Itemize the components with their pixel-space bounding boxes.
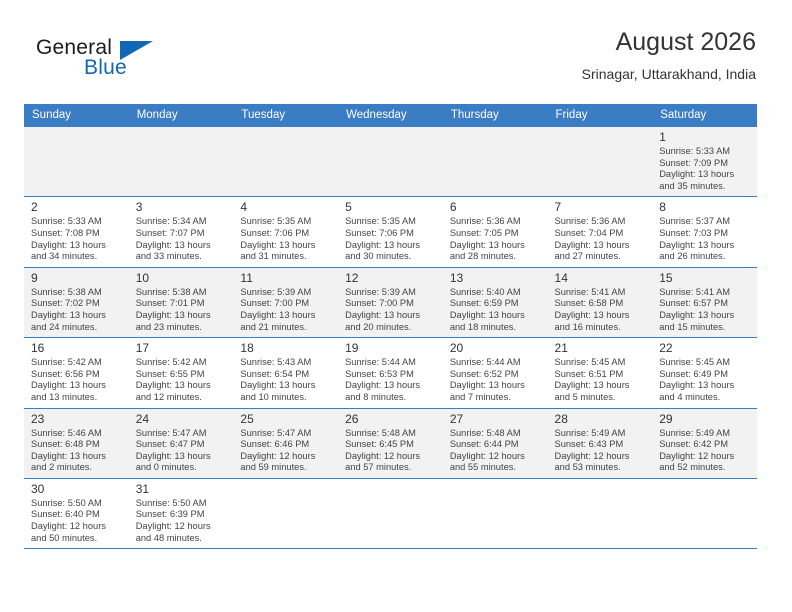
calendar-day-cell[interactable]: 26Sunrise: 5:48 AMSunset: 6:45 PMDayligh… xyxy=(338,408,443,478)
calendar-page: General Blue August 2026 Srinagar, Uttar… xyxy=(0,0,792,612)
cell-inner xyxy=(548,127,653,196)
sunset-text: Sunset: 7:05 PM xyxy=(450,228,542,240)
daylight-text-line1: Daylight: 13 hours xyxy=(240,310,332,322)
sunrise-text: Sunrise: 5:39 AM xyxy=(240,287,332,299)
sunrise-text: Sunrise: 5:34 AM xyxy=(136,216,228,228)
cell-inner: 28Sunrise: 5:49 AMSunset: 6:43 PMDayligh… xyxy=(548,409,653,478)
day-number: 12 xyxy=(345,271,437,286)
sunset-text: Sunset: 7:04 PM xyxy=(555,228,647,240)
calendar-week-row: 30Sunrise: 5:50 AMSunset: 6:40 PMDayligh… xyxy=(24,478,757,548)
calendar-day-cell[interactable]: 2Sunrise: 5:33 AMSunset: 7:08 PMDaylight… xyxy=(24,197,129,267)
daylight-text-line1: Daylight: 13 hours xyxy=(240,380,332,392)
sunset-text: Sunset: 7:06 PM xyxy=(240,228,332,240)
day-sun-info: Sunrise: 5:39 AMSunset: 7:00 PMDaylight:… xyxy=(345,287,437,333)
sunrise-text: Sunrise: 5:44 AM xyxy=(345,357,437,369)
day-number: 19 xyxy=(345,341,437,356)
daylight-text-line1: Daylight: 13 hours xyxy=(555,240,647,252)
sunset-text: Sunset: 6:57 PM xyxy=(659,298,751,310)
daylight-text-line1: Daylight: 13 hours xyxy=(345,310,437,322)
weekday-header-tuesday: Tuesday xyxy=(233,104,338,127)
day-number: 5 xyxy=(345,200,437,215)
calendar-head: Sunday Monday Tuesday Wednesday Thursday… xyxy=(24,104,757,127)
day-number: 9 xyxy=(31,271,123,286)
daylight-text-line2: and 5 minutes. xyxy=(555,392,647,404)
day-number: 22 xyxy=(659,341,751,356)
daylight-text-line1: Daylight: 13 hours xyxy=(31,240,123,252)
cell-inner: 12Sunrise: 5:39 AMSunset: 7:00 PMDayligh… xyxy=(338,268,443,337)
sunrise-text: Sunrise: 5:36 AM xyxy=(450,216,542,228)
weekday-header-thursday: Thursday xyxy=(443,104,548,127)
sunset-text: Sunset: 7:02 PM xyxy=(31,298,123,310)
daylight-text-line2: and 4 minutes. xyxy=(659,392,751,404)
sunset-text: Sunset: 7:09 PM xyxy=(659,158,751,170)
daylight-text-line1: Daylight: 12 hours xyxy=(240,451,332,463)
day-sun-info: Sunrise: 5:48 AMSunset: 6:44 PMDaylight:… xyxy=(450,428,542,474)
daylight-text-line1: Daylight: 13 hours xyxy=(450,380,542,392)
day-sun-info: Sunrise: 5:40 AMSunset: 6:59 PMDaylight:… xyxy=(450,287,542,333)
day-sun-info: Sunrise: 5:36 AMSunset: 7:05 PMDaylight:… xyxy=(450,216,542,262)
day-sun-info: Sunrise: 5:44 AMSunset: 6:52 PMDaylight:… xyxy=(450,357,542,403)
daylight-text-line2: and 34 minutes. xyxy=(31,251,123,263)
sunrise-text: Sunrise: 5:45 AM xyxy=(659,357,751,369)
cell-inner: 8Sunrise: 5:37 AMSunset: 7:03 PMDaylight… xyxy=(652,197,757,266)
calendar-cell-empty xyxy=(24,127,129,197)
calendar-day-cell[interactable]: 7Sunrise: 5:36 AMSunset: 7:04 PMDaylight… xyxy=(548,197,653,267)
cell-inner: 11Sunrise: 5:39 AMSunset: 7:00 PMDayligh… xyxy=(233,268,338,337)
sunset-text: Sunset: 7:01 PM xyxy=(136,298,228,310)
day-sun-info: Sunrise: 5:45 AMSunset: 6:51 PMDaylight:… xyxy=(555,357,647,403)
sunrise-text: Sunrise: 5:36 AM xyxy=(555,216,647,228)
weekday-header-sunday: Sunday xyxy=(24,104,129,127)
day-number: 10 xyxy=(136,271,228,286)
sunset-text: Sunset: 6:39 PM xyxy=(136,509,228,521)
cell-inner xyxy=(233,127,338,196)
calendar-week-row: 9Sunrise: 5:38 AMSunset: 7:02 PMDaylight… xyxy=(24,267,757,337)
sunrise-text: Sunrise: 5:48 AM xyxy=(450,428,542,440)
day-sun-info: Sunrise: 5:38 AMSunset: 7:01 PMDaylight:… xyxy=(136,287,228,333)
daylight-text-line1: Daylight: 13 hours xyxy=(659,310,751,322)
day-number: 31 xyxy=(136,482,228,497)
cell-inner xyxy=(233,479,338,548)
sunrise-text: Sunrise: 5:50 AM xyxy=(136,498,228,510)
sunset-text: Sunset: 6:52 PM xyxy=(450,369,542,381)
cell-inner xyxy=(652,479,757,548)
calendar-week-row: 23Sunrise: 5:46 AMSunset: 6:48 PMDayligh… xyxy=(24,408,757,478)
cell-inner: 31Sunrise: 5:50 AMSunset: 6:39 PMDayligh… xyxy=(129,479,234,548)
sunrise-text: Sunrise: 5:44 AM xyxy=(450,357,542,369)
day-sun-info: Sunrise: 5:41 AMSunset: 6:57 PMDaylight:… xyxy=(659,287,751,333)
calendar-cell-empty xyxy=(233,478,338,548)
sunrise-text: Sunrise: 5:35 AM xyxy=(240,216,332,228)
cell-inner: 21Sunrise: 5:45 AMSunset: 6:51 PMDayligh… xyxy=(548,338,653,407)
sunrise-text: Sunrise: 5:42 AM xyxy=(31,357,123,369)
day-sun-info: Sunrise: 5:38 AMSunset: 7:02 PMDaylight:… xyxy=(31,287,123,333)
sunset-text: Sunset: 6:40 PM xyxy=(31,509,123,521)
sunrise-text: Sunrise: 5:40 AM xyxy=(450,287,542,299)
daylight-text-line2: and 53 minutes. xyxy=(555,462,647,474)
weekday-header-monday: Monday xyxy=(129,104,234,127)
daylight-text-line1: Daylight: 13 hours xyxy=(450,240,542,252)
daylight-text-line2: and 48 minutes. xyxy=(136,533,228,545)
calendar-day-cell[interactable]: 14Sunrise: 5:41 AMSunset: 6:58 PMDayligh… xyxy=(548,267,653,337)
calendar-day-cell[interactable]: 1Sunrise: 5:33 AMSunset: 7:09 PMDaylight… xyxy=(652,127,757,197)
daylight-text-line2: and 18 minutes. xyxy=(450,322,542,334)
day-number: 21 xyxy=(555,341,647,356)
cell-inner xyxy=(338,127,443,196)
day-sun-info: Sunrise: 5:50 AMSunset: 6:39 PMDaylight:… xyxy=(136,498,228,544)
calendar-week-row: 16Sunrise: 5:42 AMSunset: 6:56 PMDayligh… xyxy=(24,338,757,408)
cell-inner: 17Sunrise: 5:42 AMSunset: 6:55 PMDayligh… xyxy=(129,338,234,407)
day-sun-info: Sunrise: 5:41 AMSunset: 6:58 PMDaylight:… xyxy=(555,287,647,333)
calendar-day-cell[interactable]: 6Sunrise: 5:36 AMSunset: 7:05 PMDaylight… xyxy=(443,197,548,267)
calendar-week-row: 1Sunrise: 5:33 AMSunset: 7:09 PMDaylight… xyxy=(24,127,757,197)
day-sun-info: Sunrise: 5:47 AMSunset: 6:46 PMDaylight:… xyxy=(240,428,332,474)
sunrise-text: Sunrise: 5:46 AM xyxy=(31,428,123,440)
daylight-text-line2: and 0 minutes. xyxy=(136,462,228,474)
cell-inner: 26Sunrise: 5:48 AMSunset: 6:45 PMDayligh… xyxy=(338,409,443,478)
cell-inner xyxy=(24,127,129,196)
calendar-body: 1Sunrise: 5:33 AMSunset: 7:09 PMDaylight… xyxy=(24,127,757,549)
calendar-day-cell[interactable]: 20Sunrise: 5:44 AMSunset: 6:52 PMDayligh… xyxy=(443,338,548,408)
daylight-text-line2: and 12 minutes. xyxy=(136,392,228,404)
sunrise-text: Sunrise: 5:43 AM xyxy=(240,357,332,369)
day-sun-info: Sunrise: 5:35 AMSunset: 7:06 PMDaylight:… xyxy=(345,216,437,262)
calendar-day-cell[interactable]: 16Sunrise: 5:42 AMSunset: 6:56 PMDayligh… xyxy=(24,338,129,408)
calendar-cell-empty xyxy=(338,478,443,548)
daylight-text-line1: Daylight: 13 hours xyxy=(659,169,751,181)
cell-inner: 29Sunrise: 5:49 AMSunset: 6:42 PMDayligh… xyxy=(652,409,757,478)
day-sun-info: Sunrise: 5:46 AMSunset: 6:48 PMDaylight:… xyxy=(31,428,123,474)
daylight-text-line2: and 55 minutes. xyxy=(450,462,542,474)
cell-inner: 20Sunrise: 5:44 AMSunset: 6:52 PMDayligh… xyxy=(443,338,548,407)
calendar-day-cell[interactable]: 27Sunrise: 5:48 AMSunset: 6:44 PMDayligh… xyxy=(443,408,548,478)
cell-inner: 4Sunrise: 5:35 AMSunset: 7:06 PMDaylight… xyxy=(233,197,338,266)
cell-inner: 6Sunrise: 5:36 AMSunset: 7:05 PMDaylight… xyxy=(443,197,548,266)
day-sun-info: Sunrise: 5:43 AMSunset: 6:54 PMDaylight:… xyxy=(240,357,332,403)
day-number: 11 xyxy=(240,271,332,286)
sunrise-text: Sunrise: 5:33 AM xyxy=(659,146,751,158)
cell-inner xyxy=(338,479,443,548)
daylight-text-line1: Daylight: 12 hours xyxy=(659,451,751,463)
cell-inner: 3Sunrise: 5:34 AMSunset: 7:07 PMDaylight… xyxy=(129,197,234,266)
cell-inner: 10Sunrise: 5:38 AMSunset: 7:01 PMDayligh… xyxy=(129,268,234,337)
calendar-day-cell[interactable]: 9Sunrise: 5:38 AMSunset: 7:02 PMDaylight… xyxy=(24,267,129,337)
cell-inner: 24Sunrise: 5:47 AMSunset: 6:47 PMDayligh… xyxy=(129,409,234,478)
daylight-text-line1: Daylight: 13 hours xyxy=(136,380,228,392)
calendar-day-cell[interactable]: 11Sunrise: 5:39 AMSunset: 7:00 PMDayligh… xyxy=(233,267,338,337)
cell-inner: 22Sunrise: 5:45 AMSunset: 6:49 PMDayligh… xyxy=(652,338,757,407)
sunset-text: Sunset: 6:46 PM xyxy=(240,439,332,451)
calendar-day-cell[interactable]: 19Sunrise: 5:44 AMSunset: 6:53 PMDayligh… xyxy=(338,338,443,408)
daylight-text-line2: and 30 minutes. xyxy=(345,251,437,263)
sunset-text: Sunset: 6:59 PM xyxy=(450,298,542,310)
calendar-day-cell[interactable]: 12Sunrise: 5:39 AMSunset: 7:00 PMDayligh… xyxy=(338,267,443,337)
cell-inner: 9Sunrise: 5:38 AMSunset: 7:02 PMDaylight… xyxy=(24,268,129,337)
calendar-cell-empty xyxy=(443,127,548,197)
calendar-cell-empty xyxy=(129,127,234,197)
daylight-text-line1: Daylight: 12 hours xyxy=(136,521,228,533)
day-sun-info: Sunrise: 5:45 AMSunset: 6:49 PMDaylight:… xyxy=(659,357,751,403)
sunset-text: Sunset: 6:45 PM xyxy=(345,439,437,451)
day-sun-info: Sunrise: 5:36 AMSunset: 7:04 PMDaylight:… xyxy=(555,216,647,262)
sunset-text: Sunset: 7:07 PM xyxy=(136,228,228,240)
sunrise-text: Sunrise: 5:47 AM xyxy=(240,428,332,440)
sunset-text: Sunset: 6:56 PM xyxy=(31,369,123,381)
day-number: 29 xyxy=(659,412,751,427)
day-sun-info: Sunrise: 5:39 AMSunset: 7:00 PMDaylight:… xyxy=(240,287,332,333)
cell-inner: 27Sunrise: 5:48 AMSunset: 6:44 PMDayligh… xyxy=(443,409,548,478)
day-number: 24 xyxy=(136,412,228,427)
daylight-text-line2: and 59 minutes. xyxy=(240,462,332,474)
brand-name-blue: Blue xyxy=(84,56,127,80)
calendar-day-cell[interactable]: 13Sunrise: 5:40 AMSunset: 6:59 PMDayligh… xyxy=(443,267,548,337)
daylight-text-line2: and 33 minutes. xyxy=(136,251,228,263)
sunset-text: Sunset: 6:44 PM xyxy=(450,439,542,451)
cell-inner xyxy=(443,127,548,196)
daylight-text-line2: and 26 minutes. xyxy=(659,251,751,263)
day-sun-info: Sunrise: 5:42 AMSunset: 6:56 PMDaylight:… xyxy=(31,357,123,403)
sunrise-text: Sunrise: 5:45 AM xyxy=(555,357,647,369)
calendar-cell-empty xyxy=(233,127,338,197)
calendar-day-cell[interactable]: 24Sunrise: 5:47 AMSunset: 6:47 PMDayligh… xyxy=(129,408,234,478)
sunset-text: Sunset: 6:49 PM xyxy=(659,369,751,381)
daylight-text-line2: and 8 minutes. xyxy=(345,392,437,404)
day-sun-info: Sunrise: 5:50 AMSunset: 6:40 PMDaylight:… xyxy=(31,498,123,544)
sunrise-text: Sunrise: 5:38 AM xyxy=(136,287,228,299)
page-title: August 2026 xyxy=(582,26,756,58)
daylight-text-line2: and 21 minutes. xyxy=(240,322,332,334)
day-sun-info: Sunrise: 5:35 AMSunset: 7:06 PMDaylight:… xyxy=(240,216,332,262)
cell-inner xyxy=(129,127,234,196)
generalblue-logo[interactable]: General Blue xyxy=(36,36,216,88)
cell-inner: 18Sunrise: 5:43 AMSunset: 6:54 PMDayligh… xyxy=(233,338,338,407)
sunset-text: Sunset: 6:48 PM xyxy=(31,439,123,451)
sunset-text: Sunset: 6:53 PM xyxy=(345,369,437,381)
sunrise-text: Sunrise: 5:42 AM xyxy=(136,357,228,369)
cell-inner: 2Sunrise: 5:33 AMSunset: 7:08 PMDaylight… xyxy=(24,197,129,266)
cell-inner: 7Sunrise: 5:36 AMSunset: 7:04 PMDaylight… xyxy=(548,197,653,266)
sunrise-text: Sunrise: 5:33 AM xyxy=(31,216,123,228)
day-number: 6 xyxy=(450,200,542,215)
day-sun-info: Sunrise: 5:33 AMSunset: 7:08 PMDaylight:… xyxy=(31,216,123,262)
cell-inner: 5Sunrise: 5:35 AMSunset: 7:06 PMDaylight… xyxy=(338,197,443,266)
calendar-day-cell[interactable]: 18Sunrise: 5:43 AMSunset: 6:54 PMDayligh… xyxy=(233,338,338,408)
day-number: 17 xyxy=(136,341,228,356)
day-number: 8 xyxy=(659,200,751,215)
sunset-text: Sunset: 6:51 PM xyxy=(555,369,647,381)
calendar-week-row: 2Sunrise: 5:33 AMSunset: 7:08 PMDaylight… xyxy=(24,197,757,267)
daylight-text-line2: and 2 minutes. xyxy=(31,462,123,474)
calendar-day-cell[interactable]: 21Sunrise: 5:45 AMSunset: 6:51 PMDayligh… xyxy=(548,338,653,408)
cell-inner xyxy=(443,479,548,548)
sunrise-text: Sunrise: 5:49 AM xyxy=(555,428,647,440)
day-number: 3 xyxy=(136,200,228,215)
weekday-header-row: Sunday Monday Tuesday Wednesday Thursday… xyxy=(24,104,757,127)
day-sun-info: Sunrise: 5:37 AMSunset: 7:03 PMDaylight:… xyxy=(659,216,751,262)
day-sun-info: Sunrise: 5:47 AMSunset: 6:47 PMDaylight:… xyxy=(136,428,228,474)
day-number: 13 xyxy=(450,271,542,286)
calendar-day-cell[interactable]: 15Sunrise: 5:41 AMSunset: 6:57 PMDayligh… xyxy=(652,267,757,337)
day-sun-info: Sunrise: 5:44 AMSunset: 6:53 PMDaylight:… xyxy=(345,357,437,403)
daylight-text-line2: and 28 minutes. xyxy=(450,251,542,263)
sunset-text: Sunset: 7:00 PM xyxy=(345,298,437,310)
calendar-day-cell[interactable]: 5Sunrise: 5:35 AMSunset: 7:06 PMDaylight… xyxy=(338,197,443,267)
sunrise-text: Sunrise: 5:41 AM xyxy=(659,287,751,299)
daylight-text-line2: and 10 minutes. xyxy=(240,392,332,404)
daylight-text-line1: Daylight: 13 hours xyxy=(555,380,647,392)
daylight-text-line1: Daylight: 13 hours xyxy=(136,451,228,463)
sunset-text: Sunset: 6:47 PM xyxy=(136,439,228,451)
daylight-text-line2: and 35 minutes. xyxy=(659,181,751,193)
sunset-text: Sunset: 7:00 PM xyxy=(240,298,332,310)
calendar-cell-empty xyxy=(548,127,653,197)
day-number: 16 xyxy=(31,341,123,356)
day-number: 25 xyxy=(240,412,332,427)
day-number: 18 xyxy=(240,341,332,356)
daylight-text-line1: Daylight: 13 hours xyxy=(31,310,123,322)
calendar-day-cell[interactable]: 30Sunrise: 5:50 AMSunset: 6:40 PMDayligh… xyxy=(24,478,129,548)
calendar-day-cell[interactable]: 3Sunrise: 5:34 AMSunset: 7:07 PMDaylight… xyxy=(129,197,234,267)
calendar-day-cell[interactable]: 25Sunrise: 5:47 AMSunset: 6:46 PMDayligh… xyxy=(233,408,338,478)
calendar-cell-empty xyxy=(548,478,653,548)
calendar-day-cell[interactable]: 31Sunrise: 5:50 AMSunset: 6:39 PMDayligh… xyxy=(129,478,234,548)
calendar-cell-empty xyxy=(652,478,757,548)
calendar-day-cell[interactable]: 23Sunrise: 5:46 AMSunset: 6:48 PMDayligh… xyxy=(24,408,129,478)
sunset-text: Sunset: 6:58 PM xyxy=(555,298,647,310)
day-number: 23 xyxy=(31,412,123,427)
sunrise-text: Sunrise: 5:48 AM xyxy=(345,428,437,440)
sunrise-text: Sunrise: 5:50 AM xyxy=(31,498,123,510)
daylight-text-line1: Daylight: 13 hours xyxy=(136,310,228,322)
sunset-text: Sunset: 7:08 PM xyxy=(31,228,123,240)
cell-inner: 1Sunrise: 5:33 AMSunset: 7:09 PMDaylight… xyxy=(652,127,757,196)
cell-inner: 19Sunrise: 5:44 AMSunset: 6:53 PMDayligh… xyxy=(338,338,443,407)
daylight-text-line2: and 27 minutes. xyxy=(555,251,647,263)
page-subtitle: Srinagar, Uttarakhand, India xyxy=(582,64,756,84)
daylight-text-line2: and 15 minutes. xyxy=(659,322,751,334)
sunrise-text: Sunrise: 5:39 AM xyxy=(345,287,437,299)
day-number: 30 xyxy=(31,482,123,497)
sunset-text: Sunset: 6:43 PM xyxy=(555,439,647,451)
cell-inner: 16Sunrise: 5:42 AMSunset: 6:56 PMDayligh… xyxy=(24,338,129,407)
calendar-day-cell[interactable]: 8Sunrise: 5:37 AMSunset: 7:03 PMDaylight… xyxy=(652,197,757,267)
calendar-day-cell[interactable]: 4Sunrise: 5:35 AMSunset: 7:06 PMDaylight… xyxy=(233,197,338,267)
cell-inner: 15Sunrise: 5:41 AMSunset: 6:57 PMDayligh… xyxy=(652,268,757,337)
day-number: 7 xyxy=(555,200,647,215)
day-number: 27 xyxy=(450,412,542,427)
sunrise-text: Sunrise: 5:41 AM xyxy=(555,287,647,299)
daylight-text-line2: and 16 minutes. xyxy=(555,322,647,334)
sunset-text: Sunset: 7:06 PM xyxy=(345,228,437,240)
weekday-header-saturday: Saturday xyxy=(652,104,757,127)
daylight-text-line1: Daylight: 13 hours xyxy=(659,240,751,252)
sunset-text: Sunset: 6:54 PM xyxy=(240,369,332,381)
weekday-header-wednesday: Wednesday xyxy=(338,104,443,127)
weekday-header-friday: Friday xyxy=(548,104,653,127)
daylight-text-line1: Daylight: 13 hours xyxy=(31,380,123,392)
calendar-cell-empty xyxy=(443,478,548,548)
cell-inner xyxy=(548,479,653,548)
daylight-text-line2: and 52 minutes. xyxy=(659,462,751,474)
daylight-text-line1: Daylight: 13 hours xyxy=(345,240,437,252)
sunrise-text: Sunrise: 5:49 AM xyxy=(659,428,751,440)
daylight-text-line2: and 23 minutes. xyxy=(136,322,228,334)
sunrise-text: Sunrise: 5:47 AM xyxy=(136,428,228,440)
day-number: 28 xyxy=(555,412,647,427)
daylight-text-line1: Daylight: 13 hours xyxy=(345,380,437,392)
cell-inner: 14Sunrise: 5:41 AMSunset: 6:58 PMDayligh… xyxy=(548,268,653,337)
day-number: 15 xyxy=(659,271,751,286)
cell-inner: 30Sunrise: 5:50 AMSunset: 6:40 PMDayligh… xyxy=(24,479,129,548)
calendar-day-cell[interactable]: 17Sunrise: 5:42 AMSunset: 6:55 PMDayligh… xyxy=(129,338,234,408)
calendar-cell-empty xyxy=(338,127,443,197)
day-number: 26 xyxy=(345,412,437,427)
daylight-text-line2: and 57 minutes. xyxy=(345,462,437,474)
sunrise-text: Sunrise: 5:37 AM xyxy=(659,216,751,228)
daylight-text-line1: Daylight: 13 hours xyxy=(659,380,751,392)
day-sun-info: Sunrise: 5:48 AMSunset: 6:45 PMDaylight:… xyxy=(345,428,437,474)
daylight-text-line1: Daylight: 13 hours xyxy=(450,310,542,322)
daylight-text-line1: Daylight: 13 hours xyxy=(240,240,332,252)
day-sun-info: Sunrise: 5:49 AMSunset: 6:43 PMDaylight:… xyxy=(555,428,647,474)
sunset-text: Sunset: 6:55 PM xyxy=(136,369,228,381)
calendar-table: Sunday Monday Tuesday Wednesday Thursday… xyxy=(24,104,757,549)
calendar-day-cell[interactable]: 22Sunrise: 5:45 AMSunset: 6:49 PMDayligh… xyxy=(652,338,757,408)
daylight-text-line1: Daylight: 13 hours xyxy=(31,451,123,463)
daylight-text-line1: Daylight: 13 hours xyxy=(555,310,647,322)
calendar-day-cell[interactable]: 10Sunrise: 5:38 AMSunset: 7:01 PMDayligh… xyxy=(129,267,234,337)
daylight-text-line1: Daylight: 12 hours xyxy=(345,451,437,463)
daylight-text-line2: and 24 minutes. xyxy=(31,322,123,334)
day-sun-info: Sunrise: 5:34 AMSunset: 7:07 PMDaylight:… xyxy=(136,216,228,262)
day-sun-info: Sunrise: 5:49 AMSunset: 6:42 PMDaylight:… xyxy=(659,428,751,474)
daylight-text-line1: Daylight: 12 hours xyxy=(31,521,123,533)
daylight-text-line2: and 31 minutes. xyxy=(240,251,332,263)
calendar-day-cell[interactable]: 29Sunrise: 5:49 AMSunset: 6:42 PMDayligh… xyxy=(652,408,757,478)
sunset-text: Sunset: 6:42 PM xyxy=(659,439,751,451)
sunrise-text: Sunrise: 5:38 AM xyxy=(31,287,123,299)
day-number: 2 xyxy=(31,200,123,215)
calendar-day-cell[interactable]: 28Sunrise: 5:49 AMSunset: 6:43 PMDayligh… xyxy=(548,408,653,478)
daylight-text-line1: Daylight: 12 hours xyxy=(555,451,647,463)
daylight-text-line1: Daylight: 13 hours xyxy=(136,240,228,252)
daylight-text-line1: Daylight: 12 hours xyxy=(450,451,542,463)
day-number: 20 xyxy=(450,341,542,356)
day-number: 4 xyxy=(240,200,332,215)
daylight-text-line2: and 7 minutes. xyxy=(450,392,542,404)
cell-inner: 23Sunrise: 5:46 AMSunset: 6:48 PMDayligh… xyxy=(24,409,129,478)
cell-inner: 13Sunrise: 5:40 AMSunset: 6:59 PMDayligh… xyxy=(443,268,548,337)
sunrise-text: Sunrise: 5:35 AM xyxy=(345,216,437,228)
page-header: General Blue August 2026 Srinagar, Uttar… xyxy=(24,26,756,94)
day-sun-info: Sunrise: 5:33 AMSunset: 7:09 PMDaylight:… xyxy=(659,146,751,192)
daylight-text-line2: and 50 minutes. xyxy=(31,533,123,545)
daylight-text-line2: and 13 minutes. xyxy=(31,392,123,404)
cell-inner: 25Sunrise: 5:47 AMSunset: 6:46 PMDayligh… xyxy=(233,409,338,478)
day-number: 1 xyxy=(659,130,751,145)
title-block: August 2026 Srinagar, Uttarakhand, India xyxy=(582,26,756,84)
day-sun-info: Sunrise: 5:42 AMSunset: 6:55 PMDaylight:… xyxy=(136,357,228,403)
day-number: 14 xyxy=(555,271,647,286)
daylight-text-line2: and 20 minutes. xyxy=(345,322,437,334)
sunset-text: Sunset: 7:03 PM xyxy=(659,228,751,240)
